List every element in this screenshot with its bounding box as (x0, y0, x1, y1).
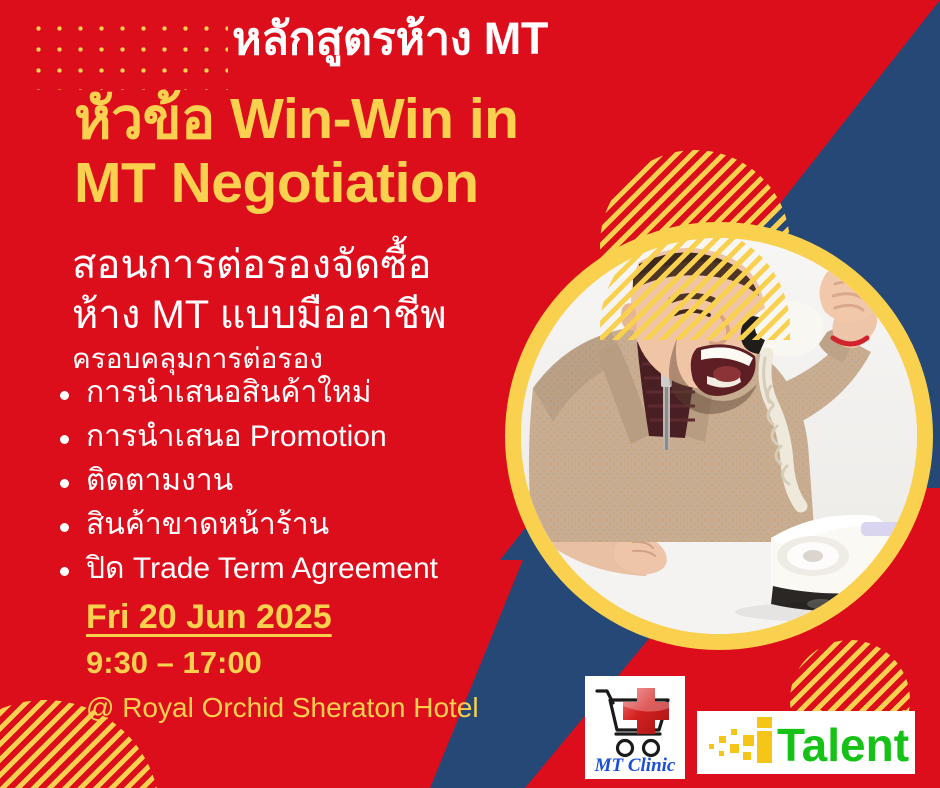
list-item: การนำเสนอ Promotion (50, 422, 570, 452)
feature-bullet-list: การนำเสนอสินค้าใหม่ การนำเสนอ Promotion … (50, 378, 570, 598)
title-line-1: หัวข้อ Win-Win in (74, 88, 674, 152)
event-date: Fri 20 Jun 2025 (86, 598, 332, 637)
event-time: 9:30 – 17:00 (86, 645, 262, 681)
mt-clinic-wordmark: MT Clinic (594, 755, 676, 776)
shopping-cart-with-medical-cross-icon: MT Clinic (585, 676, 685, 779)
list-item: ปิด Trade Term Agreement (50, 554, 570, 584)
man-shouting-into-telephone-illustration (521, 238, 917, 634)
italent-text: Talent (777, 719, 909, 771)
subtitle-line-1: สอนการต่อรองจัดซื้อ (72, 240, 572, 290)
dot-grid-decoration-top-left (28, 18, 228, 90)
italent-wordmark: Talent (697, 711, 915, 774)
kicker-heading: หลักสูตรห้าง MT (232, 16, 548, 61)
subtitle-small: ครอบคลุมการต่อรอง (72, 337, 323, 381)
subtitle-line-2: ห้าง MT แบบมืออาชีพ (72, 290, 572, 340)
event-venue: @ Royal Orchid Sheraton Hotel (86, 692, 479, 724)
list-item: การนำเสนอสินค้าใหม่ (50, 378, 570, 408)
title-line-2: MT Negotiation (74, 152, 674, 216)
mt-clinic-logo: MT Clinic (585, 676, 685, 779)
promotional-poster: หลักสูตรห้าง MT หัวข้อ Win-Win in MT Neg… (0, 0, 940, 788)
subtitle: สอนการต่อรองจัดซื้อ ห้าง MT แบบมืออาชีพ (72, 240, 572, 340)
photo-circle (521, 238, 917, 634)
list-item: สินค้าขาดหน้าร้าน (50, 510, 570, 540)
italent-logo: Talent (697, 711, 915, 774)
list-item: ติดตามงาน (50, 466, 570, 496)
page-title: หัวข้อ Win-Win in MT Negotiation (74, 88, 674, 216)
